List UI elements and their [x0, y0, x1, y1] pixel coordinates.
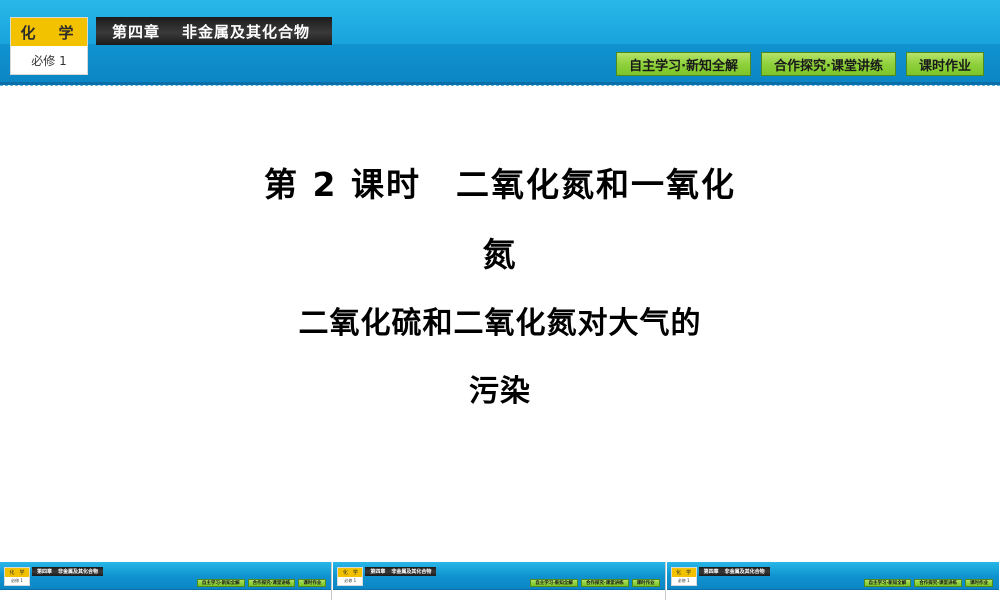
- header-nav-buttons: 自主学习·新知全解 合作探究·课堂讲练 课时作业: [616, 52, 984, 76]
- thumbnail-slide-3[interactable]: 化 学 必修 1 第四章 非金属及其化合物 自主学习·新知全解 合作探究·课堂讲…: [667, 562, 1000, 600]
- nav-button-homework[interactable]: 课时作业: [906, 52, 984, 76]
- thumbnail-logo-edition: 必修 1: [338, 577, 362, 585]
- thumbnail-slide-1[interactable]: 化 学 必修 1 第四章 非金属及其化合物 自主学习·新知全解 合作探究·课堂讲…: [0, 562, 333, 600]
- chapter-number: 第四章: [112, 21, 160, 42]
- slide-thumbnail-strip: 化 学 必修 1 第四章 非金属及其化合物 自主学习·新知全解 合作探究·课堂讲…: [0, 562, 1000, 600]
- thumbnail-nav-buttons: 自主学习·新知全解 合作探究·课堂讲练 课时作业: [197, 579, 326, 587]
- thumbnail-chapter-number: 第四章: [704, 568, 719, 575]
- chapter-banner: 第四章 非金属及其化合物: [96, 17, 332, 45]
- thumbnail-header-rule: [667, 589, 999, 590]
- subtitle-line-1: 二氧化硫和二氧化氮对大气的: [0, 290, 1000, 358]
- thumbnail-nav-button-homework[interactable]: 课时作业: [632, 579, 660, 587]
- thumbnail-nav-buttons: 自主学习·新知全解 合作探究·课堂讲练 课时作业: [530, 579, 659, 587]
- chapter-title: 非金属及其化合物: [182, 21, 310, 42]
- thumbnail-logo-edition: 必修 1: [672, 577, 696, 585]
- thumbnail-nav-button-homework[interactable]: 课时作业: [965, 579, 993, 587]
- thumbnail-subject-logo: 化 学 必修 1: [337, 567, 363, 586]
- thumbnail-nav-button-self-study[interactable]: 自主学习·新知全解: [197, 579, 245, 587]
- thumbnail-subject-logo: 化 学 必修 1: [4, 567, 30, 586]
- nav-button-cooperative-inquiry[interactable]: 合作探究·课堂讲练: [761, 52, 896, 76]
- subject-logo-edition: 必修 1: [11, 46, 87, 74]
- subject-logo-subject: 化 学: [11, 18, 87, 46]
- header-dashed-divider: [0, 85, 1000, 86]
- thumbnail-header-rule: [0, 589, 332, 590]
- thumbnail-chapter-number: 第四章: [37, 568, 52, 575]
- title-line-2: 氮: [0, 220, 1000, 290]
- thumbnail-nav-button-cooperative-inquiry[interactable]: 合作探究·课堂讲练: [248, 579, 296, 587]
- thumbnail-logo-subject: 化 学: [5, 568, 29, 577]
- subject-logo: 化 学 必修 1: [10, 17, 88, 75]
- thumbnail-header-rule: [333, 589, 665, 590]
- thumbnail-nav-button-self-study[interactable]: 自主学习·新知全解: [864, 579, 912, 587]
- slide-canvas: 化 学 必修 1 第四章 非金属及其化合物 自主学习·新知全解 合作探究·课堂讲…: [0, 0, 1000, 600]
- thumbnail-nav-button-cooperative-inquiry[interactable]: 合作探究·课堂讲练: [914, 579, 962, 587]
- thumbnail-nav-button-self-study[interactable]: 自主学习·新知全解: [530, 579, 578, 587]
- slide-title-block: 第 2 课时 二氧化氮和一氧化 氮 二氧化硫和二氧化氮对大气的 污染: [0, 150, 1000, 426]
- thumbnail-nav-buttons: 自主学习·新知全解 合作探究·课堂讲练 课时作业: [864, 579, 993, 587]
- subtitle-line-2: 污染: [0, 358, 1000, 426]
- thumbnail-logo-subject: 化 学: [338, 568, 362, 577]
- title-line-1: 第 2 课时 二氧化氮和一氧化: [0, 150, 1000, 220]
- thumbnail-chapter-banner: 第四章 非金属及其化合物: [365, 567, 436, 576]
- thumbnail-chapter-banner: 第四章 非金属及其化合物: [32, 567, 103, 576]
- nav-button-self-study[interactable]: 自主学习·新知全解: [616, 52, 751, 76]
- thumbnail-logo-edition: 必修 1: [5, 577, 29, 585]
- thumbnail-chapter-banner: 第四章 非金属及其化合物: [699, 567, 770, 576]
- thumbnail-divider: [665, 562, 666, 600]
- thumbnail-chapter-title: 非金属及其化合物: [391, 568, 431, 575]
- thumbnail-chapter-title: 非金属及其化合物: [725, 568, 765, 575]
- thumbnail-nav-button-cooperative-inquiry[interactable]: 合作探究·课堂讲练: [581, 579, 629, 587]
- thumbnail-nav-button-homework[interactable]: 课时作业: [298, 579, 326, 587]
- thumbnail-logo-subject: 化 学: [672, 568, 696, 577]
- thumbnail-slide-2[interactable]: 化 学 必修 1 第四章 非金属及其化合物 自主学习·新知全解 合作探究·课堂讲…: [333, 562, 666, 600]
- thumbnail-subject-logo: 化 学 必修 1: [671, 567, 697, 586]
- thumbnail-chapter-title: 非金属及其化合物: [58, 568, 98, 575]
- thumbnail-chapter-number: 第四章: [370, 568, 385, 575]
- thumbnail-divider: [331, 562, 332, 600]
